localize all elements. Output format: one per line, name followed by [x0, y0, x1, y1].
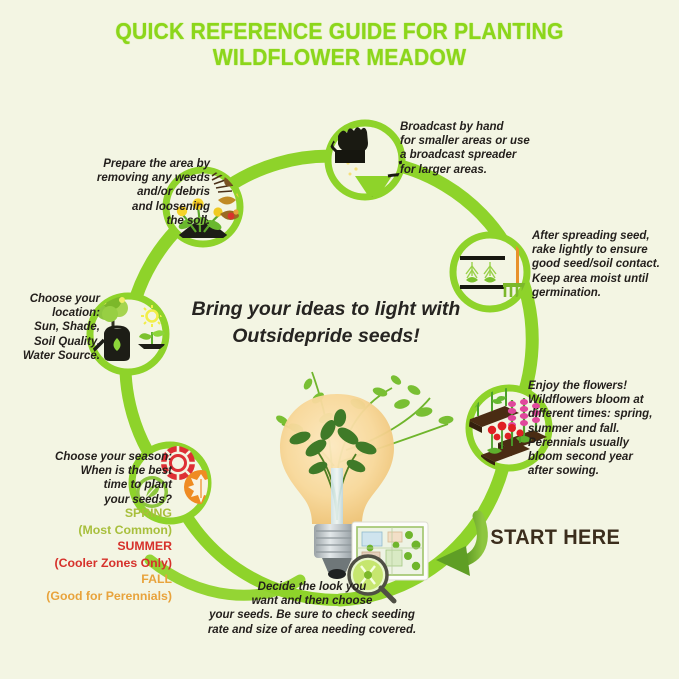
page-title: QUICK REFERENCE GUIDE FOR PLANTING WILDF… [27, 18, 652, 70]
season-legend: SPRING (Most Common) SUMMER (Cooler Zone… [12, 505, 172, 604]
caption-rake: After spreading seed, rake lightly to en… [532, 229, 660, 300]
season-summer-name: SUMMER [12, 538, 172, 555]
center-tagline: Bring your ideas to light with Outsidepr… [185, 296, 467, 350]
title-line-1: QUICK REFERENCE GUIDE FOR PLANTING [27, 18, 652, 44]
caption-enjoy: Enjoy the flowers! Wildflowers bloom at … [528, 379, 652, 478]
title-line-2: WILDFLOWER MEADOW [27, 44, 652, 70]
caption-broadcast: Broadcast by hand for smaller areas or u… [400, 120, 530, 177]
node-location[interactable] [90, 291, 166, 373]
caption-location: Choose your location: Sun, Shade, Soil Q… [4, 292, 100, 363]
caption-season: Choose your season: When is the best tim… [12, 450, 172, 507]
caption-decide: Decide the look you want and then choose… [192, 580, 432, 637]
season-summer-note: (Cooler Zones Only) [12, 555, 172, 572]
season-spring-name: SPRING [12, 505, 172, 522]
season-spring-note: (Most Common) [12, 522, 172, 539]
caption-prepare: Prepare the area by removing any weeds a… [38, 157, 210, 228]
season-fall-name: FALL [12, 571, 172, 588]
start-here-label: START HERE [490, 526, 620, 550]
season-fall-note: (Good for Perennials) [12, 588, 172, 605]
